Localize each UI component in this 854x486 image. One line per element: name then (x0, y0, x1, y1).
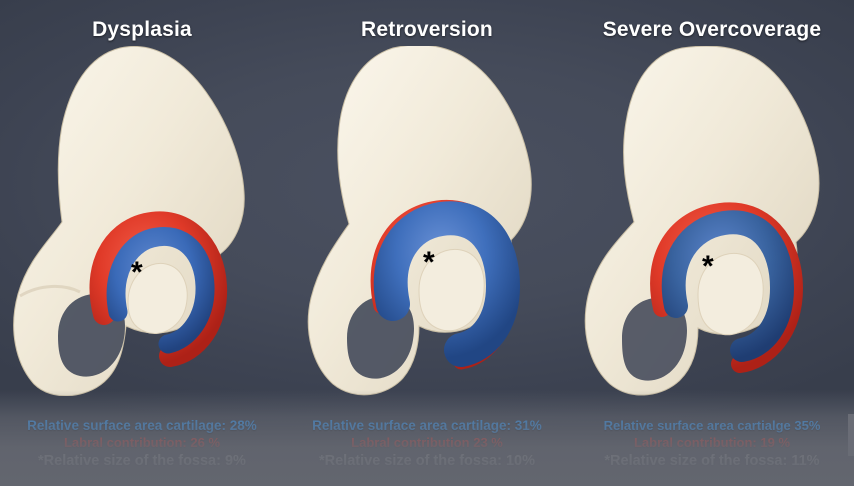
panel-dysplasia: Dysplasia (0, 0, 284, 486)
labrum-caption: Labral contribution 23 % (285, 435, 569, 450)
pelvis-model-retroversion: * (285, 46, 569, 396)
panel-severe-overcoverage: Severe Overcoverage (570, 0, 854, 486)
cartilage-caption: Relative surface area cartialge 35% (570, 418, 854, 433)
fossa-caption: *Relative size of the fossa: 9% (0, 453, 284, 469)
cartilage-caption: Relative surface area cartilage: 28% (0, 418, 284, 433)
fossa-asterisk-marker: * (131, 258, 143, 288)
panel-title: Severe Overcoverage (570, 18, 854, 42)
cartilage-caption: Relative surface area cartilage: 31% (285, 418, 569, 433)
pelvis-model-severe-overcoverage: * (570, 46, 854, 396)
labrum-caption: Labral contribution: 26 % (0, 435, 284, 450)
figure-canvas: Dysplasia (0, 0, 854, 486)
panel-title: Retroversion (285, 18, 569, 42)
fossa-caption: *Relative size of the fossa: 11% (570, 453, 854, 469)
panel-retroversion: Retroversion (285, 0, 569, 486)
fossa-asterisk-marker: * (423, 248, 435, 278)
panel-title: Dysplasia (0, 18, 284, 42)
right-edge-strip (848, 414, 854, 456)
labrum-caption: Labral contribution: 19 % (570, 435, 854, 450)
fossa-asterisk-marker: * (702, 252, 714, 282)
pelvis-model-dysplasia: * (0, 46, 284, 396)
fossa-caption: *Relative size of the fossa: 10% (285, 453, 569, 469)
